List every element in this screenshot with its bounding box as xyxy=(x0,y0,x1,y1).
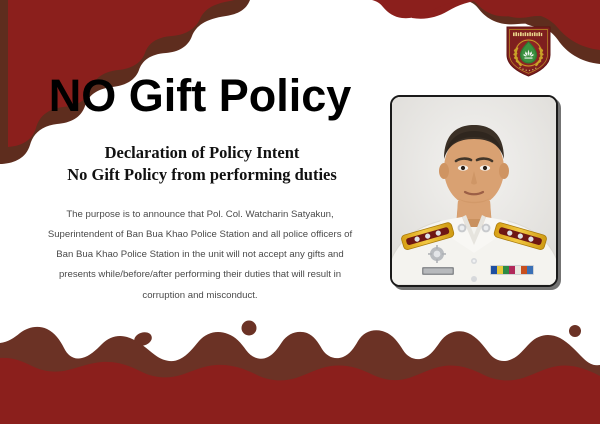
no-gift-policy-poster: NO Gift Policy Declaration of Policy Int… xyxy=(0,0,600,424)
page-title-block: NO Gift Policy xyxy=(0,72,400,119)
wave-blob-1 xyxy=(132,330,153,348)
shield-emblem-graphic xyxy=(505,25,552,77)
subtitle-line-1: Declaration of Policy Intent xyxy=(0,142,404,164)
body-line: Superintendent of Ban Bua Khao Police St… xyxy=(22,225,378,245)
wave-blob-3 xyxy=(569,325,581,337)
portrait-illustration xyxy=(392,97,556,285)
body-line: corruption and misconduct. xyxy=(22,286,378,306)
body-line: Ban Bua Khao Police Station in the unit … xyxy=(22,245,378,265)
body-line: presents while/before/after performing t… xyxy=(22,265,378,285)
ribbon-bars xyxy=(490,265,534,275)
body-line: The purpose is to announce that Pol. Col… xyxy=(22,205,378,225)
page-title: NO Gift Policy xyxy=(0,72,400,119)
subtitle-line-2: No Gift Policy from performing duties xyxy=(0,164,404,186)
bottom-red-wave xyxy=(0,358,600,424)
subtitle-block: Declaration of Policy Intent No Gift Pol… xyxy=(0,142,404,187)
top-right-red-wave-2 xyxy=(372,0,600,50)
wave-blob-2 xyxy=(242,321,257,336)
police-station-emblem xyxy=(505,25,552,77)
bottom-brown-wave xyxy=(0,327,600,424)
body-paragraph: The purpose is to announce that Pol. Col… xyxy=(22,205,378,306)
portrait-photo xyxy=(390,95,558,287)
